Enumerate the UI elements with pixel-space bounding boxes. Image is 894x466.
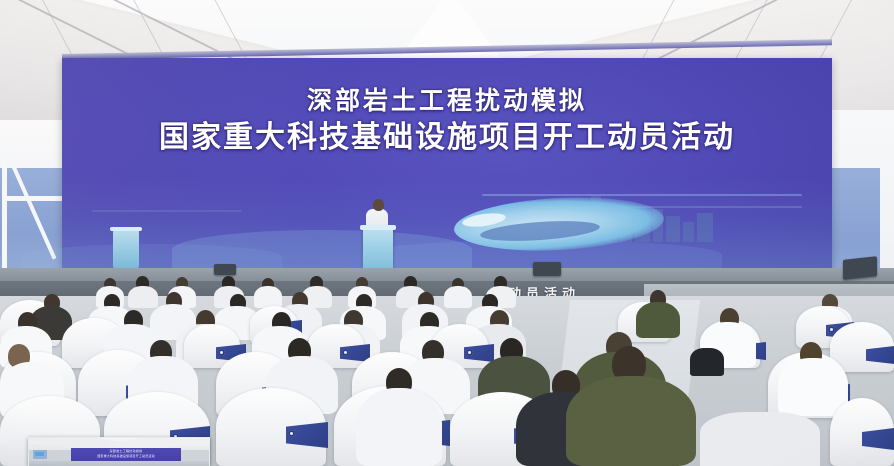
- chair-bow-knot: [466, 349, 473, 356]
- side-podium: [113, 230, 139, 268]
- audience-person: [254, 286, 282, 308]
- side-podium-top: [110, 227, 142, 231]
- chair-bow-knot: [288, 430, 295, 437]
- stage-monitor-icon: [533, 262, 561, 276]
- chair-bow-knot: [828, 326, 835, 333]
- pip-left-panel-inner: [35, 452, 44, 456]
- audience-person: [636, 302, 680, 338]
- light-streak: [92, 210, 242, 212]
- chair-bow-knot: [218, 349, 225, 356]
- pip-title-line-2: 国家重大科技基础设施项目开工动员活动: [71, 454, 181, 459]
- picture-in-picture-thumbnail[interactable]: 深部岩土工程扰动模拟 国家重大科技基础设施项目开工动员活动: [28, 437, 210, 466]
- main-podium: [363, 228, 393, 272]
- screenshot-root: 深部岩土工程扰动模拟 国家重大科技基础设施项目开工动员活动 动员活动: [0, 0, 894, 466]
- led-backdrop: [62, 58, 832, 270]
- ridge-shape: [22, 244, 282, 270]
- pip-floor: [29, 461, 209, 466]
- speaker-head: [373, 199, 384, 211]
- audience-person-foreground: [566, 376, 696, 466]
- stage-monitor-icon: [843, 256, 877, 280]
- audience-person: [356, 388, 442, 466]
- audience-person-dark: [690, 348, 724, 376]
- audience-person: [700, 412, 820, 466]
- audience-person: [128, 286, 158, 308]
- audience-person: [778, 358, 848, 416]
- stage-monitor-icon: [214, 264, 236, 275]
- chair-bow-knot: [342, 349, 349, 356]
- main-podium-top: [360, 225, 396, 230]
- audience-person: [444, 286, 472, 308]
